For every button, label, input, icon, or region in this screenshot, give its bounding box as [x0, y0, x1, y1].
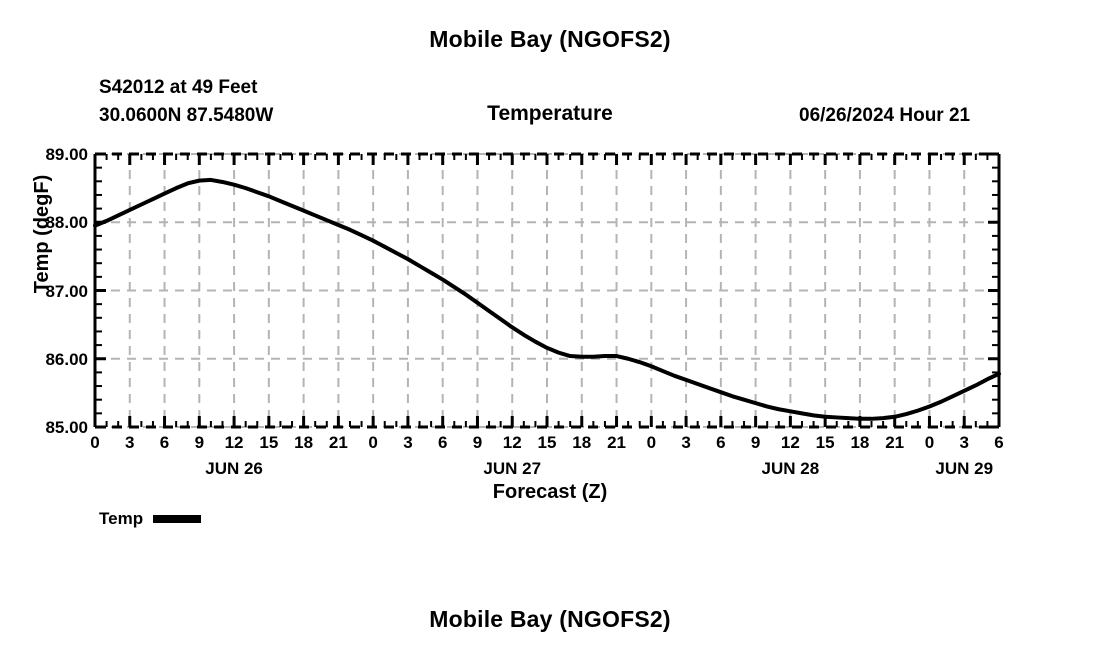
chart-plot-area	[0, 0, 1100, 650]
page-title-bottom: Mobile Bay (NGOFS2)	[0, 608, 1100, 631]
x-axis-tick-label: 21	[607, 434, 626, 451]
x-axis-tick-label: 15	[538, 434, 557, 451]
x-axis-tick-label: 3	[959, 434, 968, 451]
x-axis-day-label: JUN 27	[483, 460, 541, 477]
x-axis-day-label: JUN 29	[935, 460, 993, 477]
x-axis-tick-label: 18	[850, 434, 869, 451]
y-axis-tick-label: 85.00	[45, 419, 88, 436]
x-axis-tick-label: 18	[572, 434, 591, 451]
legend-label-temp: Temp	[99, 510, 143, 527]
x-axis-tick-label: 12	[503, 434, 522, 451]
x-axis-tick-label: 21	[885, 434, 904, 451]
x-axis-tick-label: 0	[368, 434, 377, 451]
x-axis-tick-label: 12	[781, 434, 800, 451]
x-axis-day-label: JUN 28	[762, 460, 820, 477]
x-axis-tick-label: 15	[816, 434, 835, 451]
x-axis-tick-label: 3	[403, 434, 412, 451]
y-axis-tick-label: 89.00	[45, 146, 88, 163]
chart-legend: Temp	[99, 510, 201, 527]
chart-page: Mobile Bay (NGOFS2) S42012 at 49 Feet 30…	[0, 0, 1100, 650]
x-axis-tick-label: 18	[294, 434, 313, 451]
x-axis-tick-label: 6	[994, 434, 1003, 451]
x-axis-tick-label: 0	[90, 434, 99, 451]
x-axis-tick-label: 6	[716, 434, 725, 451]
x-axis-tick-label: 9	[473, 434, 482, 451]
x-axis-tick-label: 21	[329, 434, 348, 451]
x-axis-tick-label: 15	[259, 434, 278, 451]
x-axis-tick-label: 9	[195, 434, 204, 451]
x-axis-tick-label: 6	[438, 434, 447, 451]
y-axis-tick-label: 88.00	[45, 214, 88, 231]
x-axis-day-label: JUN 26	[205, 460, 263, 477]
x-axis-tick-label: 12	[225, 434, 244, 451]
x-axis-tick-label: 9	[751, 434, 760, 451]
legend-swatch-temp	[153, 515, 201, 523]
y-axis-tick-label: 86.00	[45, 351, 88, 368]
x-axis-tick-label: 6	[160, 434, 169, 451]
x-axis-tick-label: 0	[647, 434, 656, 451]
x-axis-tick-label: 3	[125, 434, 134, 451]
x-axis-tick-label: 3	[681, 434, 690, 451]
y-axis-tick-label: 87.00	[45, 283, 88, 300]
x-axis-tick-label: 0	[925, 434, 934, 451]
